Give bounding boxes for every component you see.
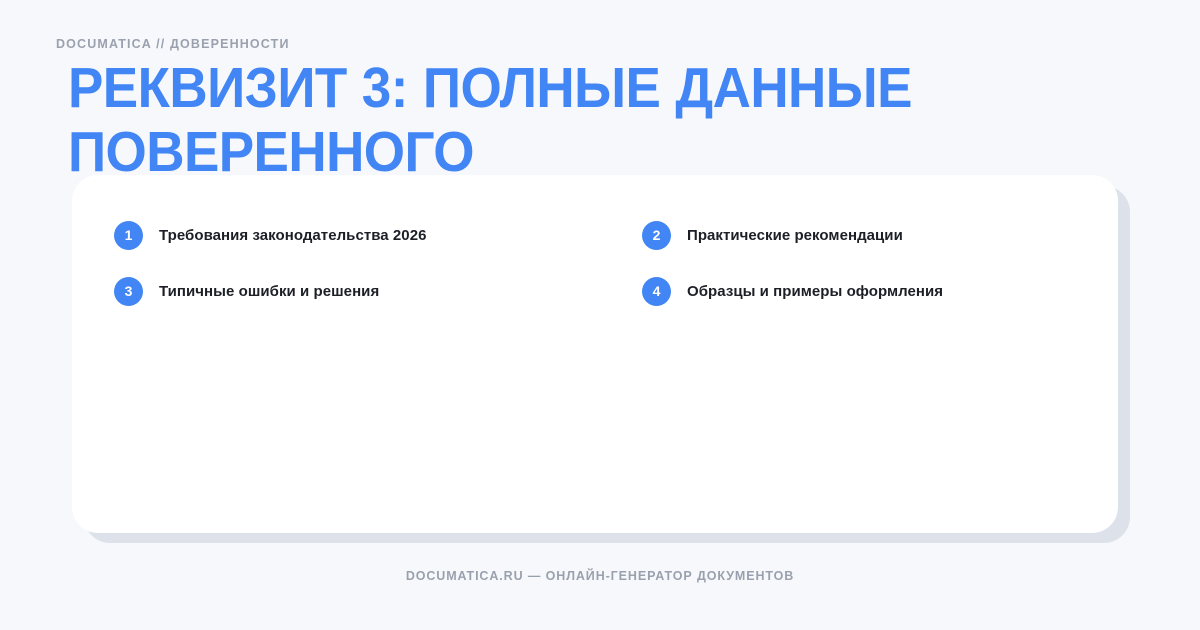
- list-item: 3 Типичные ошибки и решения: [114, 263, 642, 319]
- list-item-label: Типичные ошибки и решения: [159, 283, 379, 300]
- list-item: 4 Образцы и примеры оформления: [642, 263, 1084, 319]
- content-card: 1 Требования законодательства 2026 2 Пра…: [72, 175, 1118, 533]
- list-item: 1 Требования законодательства 2026: [114, 207, 642, 263]
- list-item-label: Образцы и примеры оформления: [687, 283, 943, 300]
- breadcrumb-eyebrow: DOCUMATICA // ДОВЕРЕННОСТИ: [56, 37, 290, 51]
- number-badge: 3: [114, 277, 143, 306]
- footer-attribution: DOCUMATICA.RU — ОНЛАЙН-ГЕНЕРАТОР ДОКУМЕН…: [0, 569, 1200, 583]
- slide-root: DOCUMATICA // ДОВЕРЕННОСТИ РЕКВИЗИТ 3: П…: [0, 0, 1200, 630]
- list-item-label: Практические рекомендации: [687, 227, 903, 244]
- number-badge: 4: [642, 277, 671, 306]
- points-grid: 1 Требования законодательства 2026 2 Пра…: [114, 207, 1084, 319]
- list-item: 2 Практические рекомендации: [642, 207, 1084, 263]
- list-item-label: Требования законодательства 2026: [159, 227, 426, 244]
- number-badge: 1: [114, 221, 143, 250]
- page-title: РЕКВИЗИТ 3: ПОЛНЫЕ ДАННЫЕ ПОВЕРЕННОГО: [68, 56, 998, 184]
- number-badge: 2: [642, 221, 671, 250]
